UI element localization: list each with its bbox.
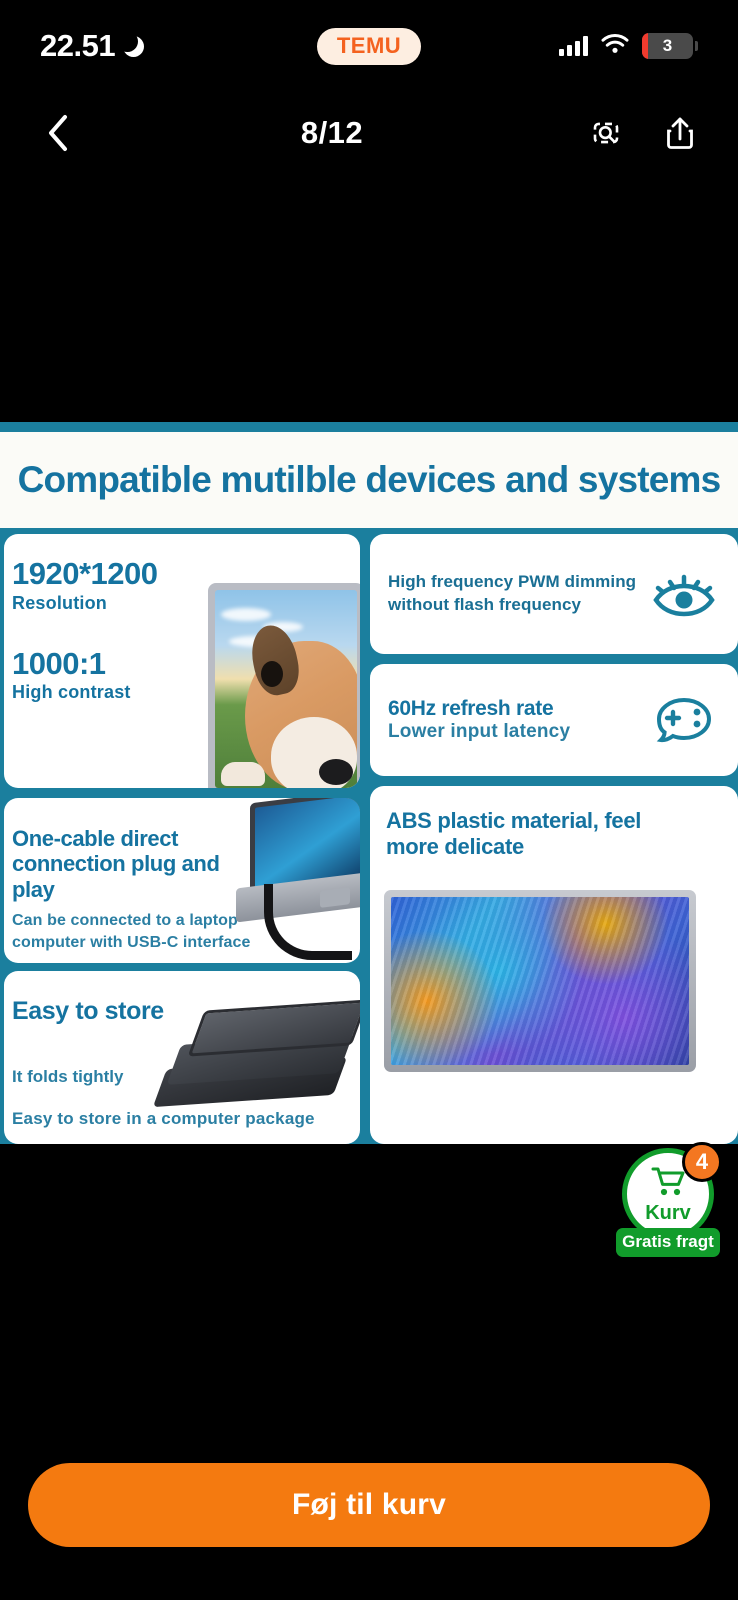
contrast-label: High contrast — [12, 682, 158, 703]
status-time: 22.51 — [40, 28, 115, 64]
resolution-value: 1920*1200 — [12, 558, 158, 591]
feature-card-easy-store: Easy to store It folds tightly Easy to s… — [4, 971, 360, 1144]
store-line-1: It folds tightly — [12, 1067, 123, 1087]
abs-title: ABS plastic material, feel more delicate — [386, 808, 696, 861]
image-search-icon[interactable] — [584, 111, 628, 155]
cart-floating-button[interactable]: Kurv 4 Gratis fragt — [616, 1148, 720, 1257]
product-detail-image: Compatible mutilble devices and systems … — [0, 422, 738, 1144]
feature-card-grid: 1920*1200 Resolution 1000:1 High contras… — [0, 534, 738, 1144]
share-icon[interactable] — [658, 111, 702, 155]
refresh-rate-subtitle: Lower input latency — [388, 721, 638, 743]
refresh-rate-title: 60Hz refresh rate — [388, 697, 638, 721]
battery-level: 3 — [663, 36, 672, 56]
feature-card-pwm: High frequency PWM dimming without flash… — [370, 534, 738, 654]
free-shipping-badge: Gratis fragt — [616, 1228, 720, 1257]
product-image-viewer[interactable]: Compatible mutilble devices and systems … — [0, 174, 738, 1144]
feature-card-specs: 1920*1200 Resolution 1000:1 High contras… — [4, 534, 360, 788]
store-title: Easy to store — [12, 997, 164, 1026]
pwm-text: High frequency PWM dimming without flash… — [388, 571, 638, 617]
temu-brand-label: TEMU — [337, 33, 401, 58]
feature-card-abs-material: ABS plastic material, feel more delicate — [370, 786, 738, 1144]
nav-actions — [584, 111, 702, 155]
contrast-value: 1000:1 — [12, 648, 158, 681]
gamepad-icon — [648, 694, 720, 746]
portable-monitor-colorful-wallpaper-photo — [384, 890, 696, 1072]
spec-text-block: 1920*1200 Resolution 1000:1 High contras… — [12, 558, 158, 703]
corgi-on-monitor-photo — [208, 583, 360, 788]
status-bar-left: 22.51 — [40, 28, 220, 64]
eye-icon — [648, 568, 720, 620]
nav-bar: 8/12 — [0, 92, 738, 174]
status-bar-right: 3 — [518, 33, 698, 59]
wifi-icon — [601, 33, 629, 59]
image-heading-banner: Compatible mutilble devices and systems — [0, 432, 738, 528]
laptop-usbc-cable-photo — [220, 798, 360, 926]
back-button[interactable] — [36, 111, 80, 155]
cart-label: Kurv — [645, 1203, 691, 1223]
status-bar: 22.51 TEMU 3 — [0, 0, 738, 92]
image-heading: Compatible mutilble devices and systems — [18, 459, 721, 501]
folded-monitor-stand-photo — [162, 1005, 360, 1105]
battery-indicator: 3 — [642, 33, 698, 59]
store-line-2: Easy to store in a computer package — [12, 1109, 315, 1129]
feature-card-usbc: One-cable direct connection plug and pla… — [4, 798, 360, 963]
temu-brand-pill: TEMU — [317, 28, 421, 65]
phone-screen: 22.51 TEMU 3 — [0, 0, 738, 1600]
crescent-moon-icon — [123, 36, 144, 57]
feature-card-refresh-rate: 60Hz refresh rate Lower input latency — [370, 664, 738, 776]
cart-count-badge: 4 — [682, 1142, 722, 1182]
bottom-bar: Føj til kurv — [0, 1410, 738, 1600]
resolution-label: Resolution — [12, 593, 158, 614]
shopping-cart-icon — [649, 1165, 687, 1202]
add-to-cart-button[interactable]: Føj til kurv — [28, 1463, 710, 1547]
cellular-signal-icon — [559, 36, 588, 56]
image-counter: 8/12 — [301, 115, 363, 151]
